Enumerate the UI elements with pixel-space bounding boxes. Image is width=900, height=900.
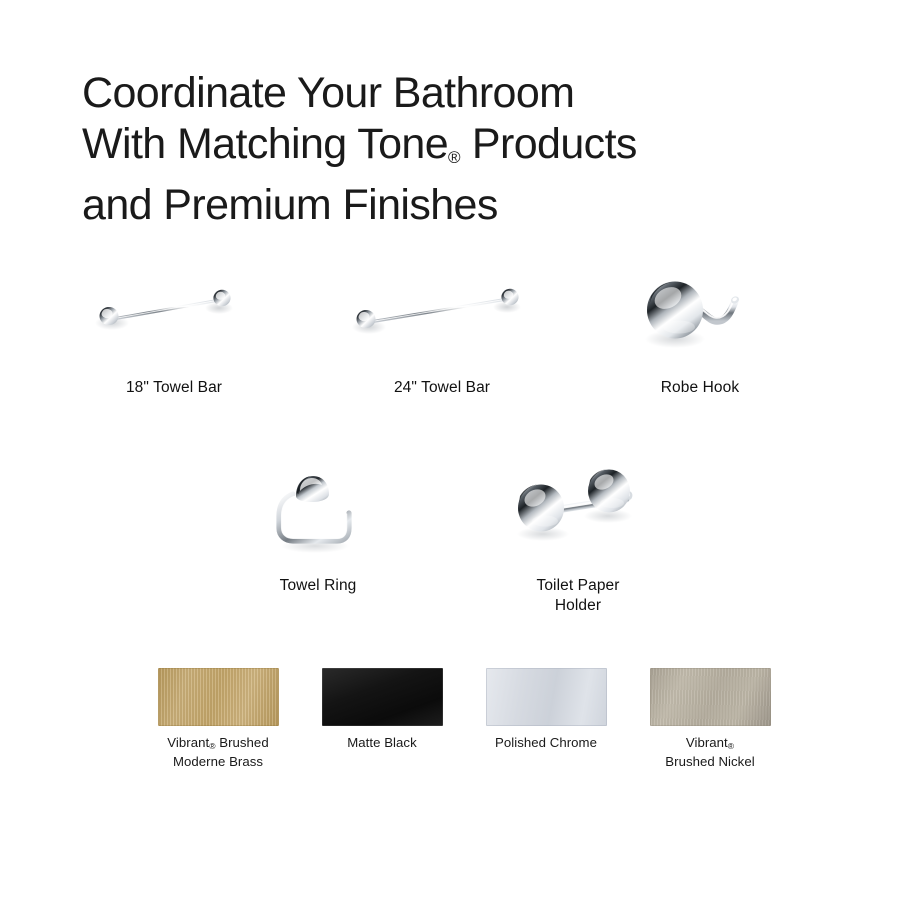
headline-line-2-text-a: With Matching Tone	[82, 120, 448, 168]
registered-mark-icon: ®	[448, 132, 461, 183]
finish-name-part-b: Brushed Nickel	[665, 754, 754, 769]
finish-swatch-row: Vibrant® Brushed Moderne Brass Matte Bla…	[154, 668, 774, 770]
finish-option-matte-black[interactable]: Matte Black	[318, 668, 446, 770]
product-label: Toilet Paper Holder	[488, 576, 668, 616]
product-card-toilet-paper-holder: Toilet Paper Holder	[488, 466, 668, 616]
registered-mark-icon: ®	[728, 738, 734, 755]
finish-label: Matte Black	[318, 735, 446, 752]
robe-hook-icon	[600, 268, 800, 360]
page-headline: Coordinate Your Bathroom With Matching T…	[82, 68, 782, 231]
headline-line-1: Coordinate Your Bathroom	[82, 68, 782, 119]
headline-line-3: and Premium Finishes	[82, 180, 782, 231]
finish-label: Polished Chrome	[482, 735, 610, 752]
registered-mark-icon: ®	[209, 738, 215, 755]
product-card-18-towel-bar: 18" Towel Bar	[50, 276, 298, 398]
headline-line-2-text-b: Products	[461, 120, 637, 168]
product-card-24-towel-bar: 24" Towel Bar	[318, 276, 566, 398]
finish-name-part-a: Vibrant	[167, 735, 209, 750]
product-collection-page: Coordinate Your Bathroom With Matching T…	[0, 0, 900, 900]
swatch-brushed-moderne-brass[interactable]	[158, 668, 279, 726]
finish-option-brushed-nickel[interactable]: Vibrant® Brushed Nickel	[646, 668, 774, 770]
swatch-brushed-nickel[interactable]	[650, 668, 771, 726]
product-card-towel-ring: Towel Ring	[228, 466, 408, 596]
product-label: Towel Ring	[228, 576, 408, 596]
headline-line-2: With Matching Tone® Products	[82, 119, 782, 180]
towel-bar-icon	[50, 276, 298, 360]
towel-ring-icon	[228, 466, 408, 558]
finish-name-part-a: Polished Chrome	[495, 735, 597, 750]
finish-option-brushed-moderne-brass[interactable]: Vibrant® Brushed Moderne Brass	[154, 668, 282, 770]
finish-name-part-a: Matte Black	[347, 735, 416, 750]
product-label: 18" Towel Bar	[50, 378, 298, 398]
finish-name-part-a: Vibrant	[686, 735, 728, 750]
towel-bar-icon	[318, 276, 566, 360]
swatch-matte-black[interactable]	[322, 668, 443, 726]
product-label: Robe Hook	[600, 378, 800, 398]
swatch-polished-chrome[interactable]	[486, 668, 607, 726]
finish-label: Vibrant® Brushed Moderne Brass	[154, 735, 282, 770]
toilet-paper-holder-icon	[488, 466, 668, 558]
product-label: 24" Towel Bar	[318, 378, 566, 398]
finish-label: Vibrant® Brushed Nickel	[646, 735, 774, 770]
finish-option-polished-chrome[interactable]: Polished Chrome	[482, 668, 610, 770]
product-card-robe-hook: Robe Hook	[600, 268, 800, 398]
